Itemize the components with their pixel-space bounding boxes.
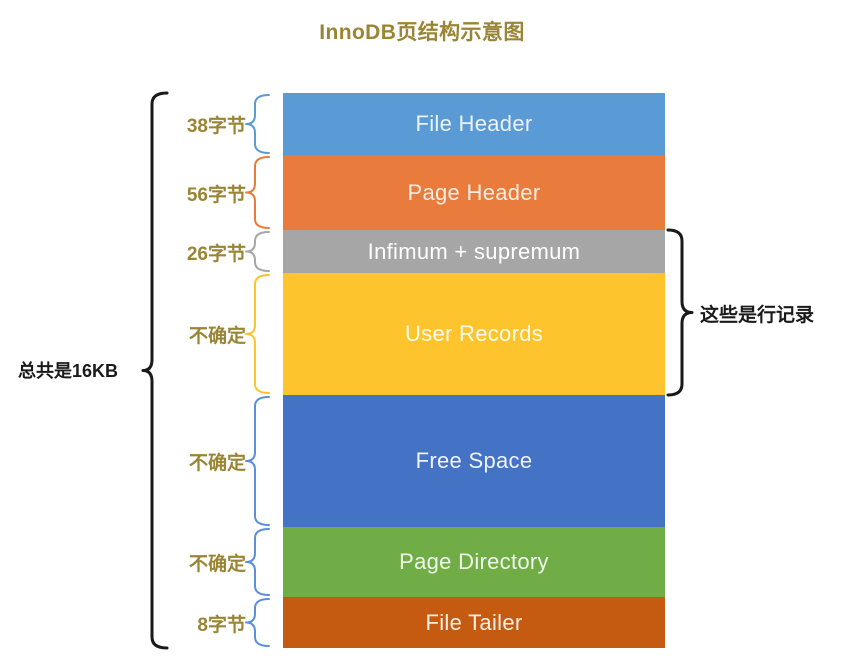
total-size-annotation: 总共是16KB: [18, 357, 118, 383]
block-label: User Records: [405, 321, 543, 347]
size-label-file-tailer: 8字节: [96, 610, 246, 637]
block-label: Page Header: [408, 180, 541, 206]
size-label-user-records: 不确定: [96, 321, 246, 348]
row-records-bracket: [668, 230, 692, 395]
size-label-page-directory: 不确定: [96, 549, 246, 576]
block-label: Free Space: [416, 448, 533, 474]
row-records-annotation: 这些是行记录: [700, 300, 814, 327]
block-infimum-supremum: Infimum + supremum: [283, 230, 665, 273]
block-file-header: File Header: [283, 93, 665, 155]
block-page-header: Page Header: [283, 155, 665, 230]
block-label: Page Directory: [399, 549, 549, 575]
block-free-space: Free Space: [283, 395, 665, 527]
block-user-records: User Records: [283, 273, 665, 395]
page-title: InnoDB页结构示意图: [0, 16, 844, 46]
block-label: Infimum + supremum: [368, 239, 581, 265]
size-label-file-header: 38字节: [96, 111, 246, 138]
innodb-page-structure-diagram: InnoDB页结构示意图 File HeaderPage HeaderInfim…: [0, 0, 844, 666]
size-label-free-space: 不确定: [96, 448, 246, 475]
size-label-infimum-supremum: 26字节: [96, 239, 246, 266]
block-label: File Tailer: [425, 610, 522, 636]
size-label-page-header: 56字节: [96, 180, 246, 207]
block-label: File Header: [415, 111, 532, 137]
block-file-tailer: File Tailer: [283, 597, 665, 648]
block-page-directory: Page Directory: [283, 527, 665, 597]
